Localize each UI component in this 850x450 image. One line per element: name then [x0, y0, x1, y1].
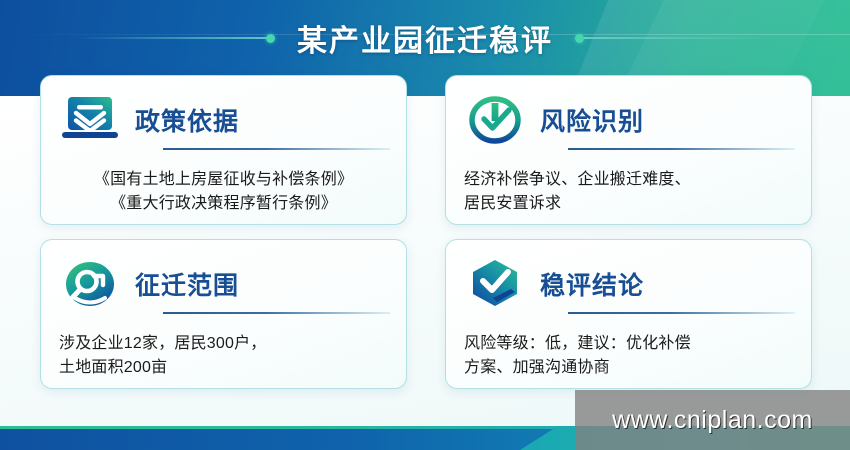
card-line-2: 土地面积200亩: [59, 356, 388, 380]
card-body: 风险等级：低，建议：优化补偿 方案、加强沟通协商: [464, 332, 793, 380]
page-title: 某产业园征迁稳评: [297, 16, 553, 60]
decoration-dot-right-icon: [575, 34, 584, 43]
card-line-1: 涉及企业12家，居民300户，: [59, 332, 388, 356]
slide-canvas: 某产业园征迁稳评: [0, 0, 850, 450]
card-divider: [163, 312, 390, 314]
card-divider: [568, 148, 795, 150]
card-body: 《国有土地上房屋征收与补偿条例》 《重大行政决策程序暂行条例》: [59, 168, 388, 216]
card-line-2: 居民安置诉求: [464, 192, 793, 216]
card-divider: [568, 312, 795, 314]
card-line-2: 《重大行政决策程序暂行条例》: [59, 192, 388, 216]
title-row: 某产业园征迁稳评: [0, 12, 850, 64]
circle-down-check-icon: [464, 91, 526, 149]
card-line-1: 经济补偿争议、企业搬迁难度、: [464, 168, 793, 192]
card-relocation-scope[interactable]: 征迁范围 涉及企业12家，居民300户， 土地面积200亩: [40, 239, 407, 389]
cube-check-icon: [464, 255, 526, 313]
laptop-chevron-icon: [59, 91, 121, 149]
watermark-text: www.cniplan.com: [612, 406, 813, 435]
card-line-1: 风险等级：低，建议：优化补偿: [464, 332, 793, 356]
card-title: 政策依据: [135, 102, 239, 138]
card-line-2: 方案、加强沟通协商: [464, 356, 793, 380]
card-header: 政策依据: [59, 90, 388, 150]
search-circle-icon: [59, 255, 121, 313]
card-header: 征迁范围: [59, 254, 388, 314]
decoration-dot-left-icon: [266, 34, 275, 43]
cards-grid: 政策依据 《国有土地上房屋征收与补偿条例》 《重大行政决策程序暂行条例》: [40, 75, 812, 393]
card-title: 稳评结论: [540, 266, 644, 302]
card-risk-identification[interactable]: 风险识别 经济补偿争议、企业搬迁难度、 居民安置诉求: [445, 75, 812, 225]
watermark-overlay: www.cniplan.com: [575, 390, 850, 450]
card-assessment-conclusion[interactable]: 稳评结论 风险等级：低，建议：优化补偿 方案、加强沟通协商: [445, 239, 812, 389]
decoration-line-right: [584, 37, 774, 39]
decoration-line-left: [76, 37, 266, 39]
card-policy-basis[interactable]: 政策依据 《国有土地上房屋征收与补偿条例》 《重大行政决策程序暂行条例》: [40, 75, 407, 225]
card-body: 经济补偿争议、企业搬迁难度、 居民安置诉求: [464, 168, 793, 216]
card-title: 征迁范围: [135, 266, 239, 302]
card-title: 风险识别: [540, 102, 644, 138]
card-line-1: 《国有土地上房屋征收与补偿条例》: [59, 168, 388, 192]
title-decoration-left: [76, 34, 275, 43]
card-divider: [163, 148, 390, 150]
card-body: 涉及企业12家，居民300户， 土地面积200亩: [59, 332, 388, 380]
card-header: 风险识别: [464, 90, 793, 150]
title-decoration-right: [575, 34, 774, 43]
card-header: 稳评结论: [464, 254, 793, 314]
